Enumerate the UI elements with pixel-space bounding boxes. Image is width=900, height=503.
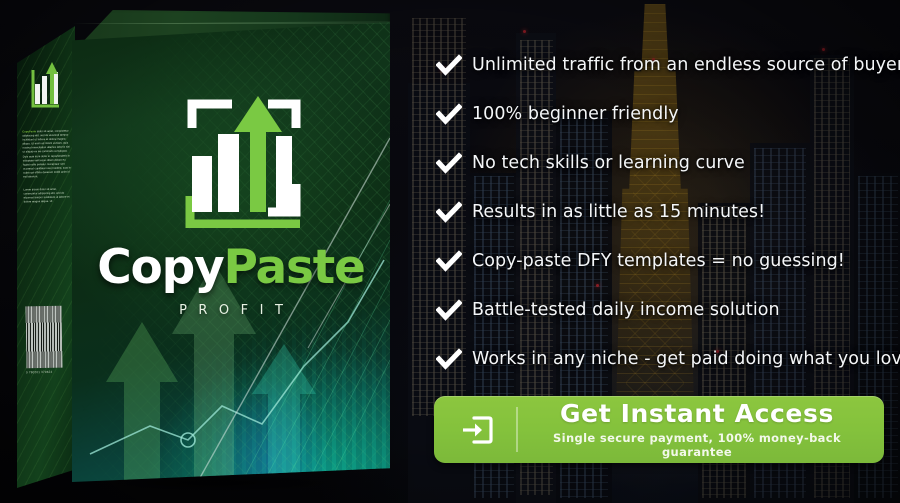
bar-chart-arrow-up-icon	[29, 54, 65, 114]
product-title-part2: Paste	[224, 240, 365, 295]
feature-text: No tech skills or learning curve	[472, 153, 745, 173]
spine-body-text-2: Lorem ipsum dolor sit amet, consectetur …	[23, 188, 71, 205]
list-item: Results in as little as 15 minutes!	[436, 187, 896, 236]
get-instant-access-button[interactable]: Get Instant Access Single secure payment…	[434, 396, 884, 463]
check-icon	[436, 152, 462, 174]
check-icon	[436, 54, 462, 76]
check-icon	[436, 103, 462, 125]
feature-text: Results in as little as 15 minutes!	[472, 202, 765, 222]
spine-title-2: Paste	[29, 130, 36, 133]
feature-text: Battle-tested daily income solution	[472, 300, 780, 320]
cta-subtext: Single secure payment, 100% money-back g…	[518, 431, 876, 459]
box-front-face: CopyPaste PROFIT	[72, 22, 390, 482]
product-title: CopyPaste	[72, 240, 390, 295]
list-item: Works in any niche - get paid doing what…	[436, 334, 896, 383]
list-item: Battle-tested daily income solution	[436, 285, 896, 334]
feature-text: 100% beginner friendly	[472, 104, 679, 124]
feature-list: Unlimited traffic from an endless source…	[436, 40, 896, 383]
product-subtitle: PROFIT	[72, 303, 390, 318]
cta-label: Get Instant Access	[518, 401, 876, 427]
list-item: No tech skills or learning curve	[436, 138, 896, 187]
barcode-number: 9 780201 379624	[26, 370, 62, 375]
barcode-icon	[25, 306, 62, 369]
check-icon	[436, 250, 462, 272]
product-title-part1: Copy	[97, 240, 223, 295]
promo-banner: CopyPaste dolor sit amet, consectetur ad…	[0, 0, 900, 503]
spine-body-text: dolor sit amet, consectetur adipiscing e…	[22, 130, 71, 179]
list-item: Copy-paste DFY templates = no guessing!	[436, 236, 896, 285]
feature-text: Unlimited traffic from an endless source…	[472, 55, 900, 75]
list-item: Unlimited traffic from an endless source…	[436, 40, 896, 89]
login-arrow-icon	[460, 413, 494, 447]
product-box: CopyPaste dolor sit amet, consectetur ad…	[0, 0, 400, 503]
box-spine-face: CopyPaste dolor sit amet, consectetur ad…	[17, 26, 75, 488]
spine-description: CopyPaste dolor sit amet, consectetur ad…	[22, 130, 72, 205]
check-icon	[436, 299, 462, 321]
bar-chart-arrow-up-icon	[176, 88, 312, 228]
feature-text: Copy-paste DFY templates = no guessing!	[472, 251, 845, 271]
list-item: 100% beginner friendly	[436, 89, 896, 138]
check-icon	[436, 348, 462, 370]
feature-text: Works in any niche - get paid doing what…	[472, 349, 900, 369]
check-icon	[436, 201, 462, 223]
cta-text-block: Get Instant Access Single secure payment…	[518, 401, 884, 459]
